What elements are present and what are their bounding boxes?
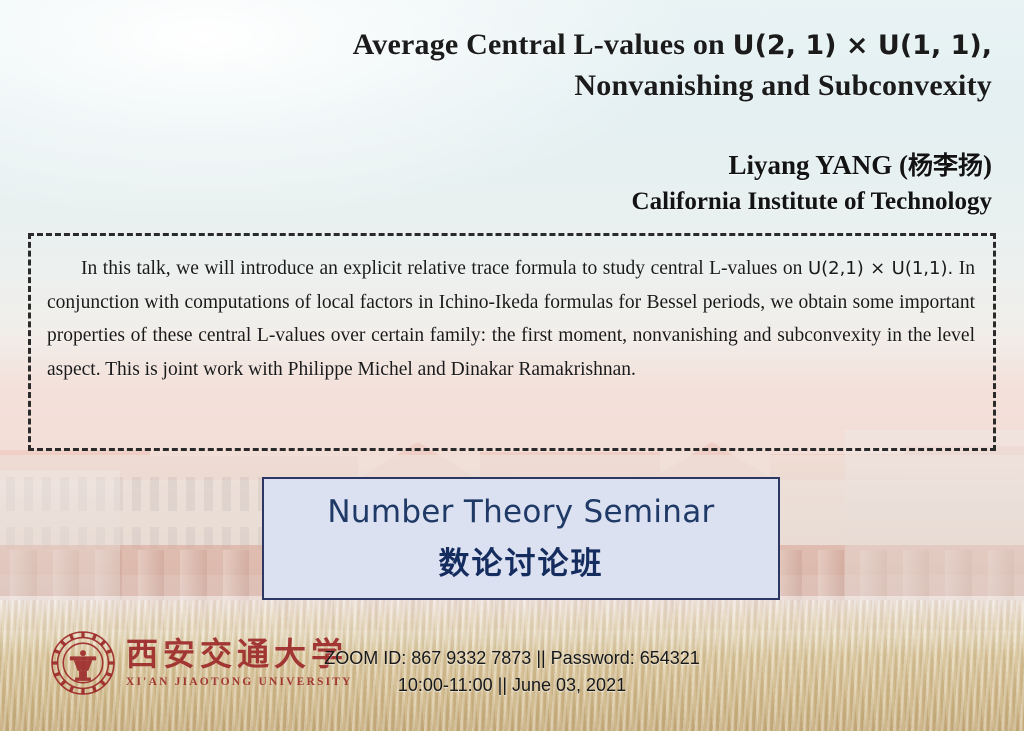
- poster-title: Average Central L-values on U(2, 1) × U(…: [232, 24, 992, 107]
- abstract-box: In this talk, we will introduce an expli…: [28, 233, 996, 451]
- seminar-banner: Number Theory Seminar 数论讨论班: [262, 477, 780, 600]
- left-tower: [0, 470, 120, 630]
- speaker-affiliation: California Institute of Technology: [292, 185, 992, 219]
- meeting-id-line: ZOOM ID: 867 9332 7873 || Password: 6543…: [0, 645, 1024, 672]
- meeting-time-line: 10:00-11:00 || June 03, 2021: [0, 672, 1024, 699]
- speaker-name: Liyang YANG (杨李扬): [292, 148, 992, 183]
- speaker-block: Liyang YANG (杨李扬) California Institute o…: [292, 148, 992, 219]
- seminar-title-english: Number Theory Seminar: [327, 494, 714, 530]
- abstract-math: U(2,1) × U(1,1).: [808, 258, 953, 279]
- speaker-name-cjk: 杨李扬: [908, 151, 983, 180]
- title-line2: Nonvanishing and Subconvexity: [574, 69, 992, 102]
- meeting-info: ZOOM ID: 867 9332 7873 || Password: 6543…: [0, 645, 1024, 699]
- abstract-part1: In this talk, we will introduce an expli…: [81, 258, 802, 279]
- seminar-title-chinese: 数论讨论班: [439, 538, 604, 583]
- title-line1-text: Average Central L-values on: [353, 28, 725, 61]
- speaker-name-latin: Liyang YANG (: [728, 150, 908, 180]
- title-line1-math: U(2, 1) × U(1, 1),: [733, 30, 992, 61]
- right-tower: [845, 430, 1024, 630]
- seminar-poster: Average Central L-values on U(2, 1) × U(…: [0, 0, 1024, 731]
- speaker-name-close: ): [983, 150, 992, 180]
- abstract-text: In this talk, we will introduce an expli…: [47, 252, 975, 386]
